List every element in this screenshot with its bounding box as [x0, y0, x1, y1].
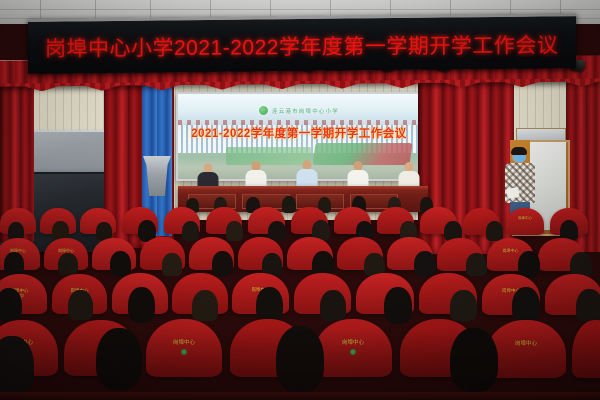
face-mask-icon: [513, 155, 526, 162]
audience-head: [512, 287, 540, 324]
seat-embroidery-line1: 岗埠中心: [503, 249, 519, 254]
audience-head: [256, 287, 283, 323]
audience-head: [466, 253, 487, 276]
seat-embroidery-line1: 岗埠中心: [173, 340, 195, 346]
audience-head: [276, 326, 324, 392]
audience-head: [128, 287, 155, 323]
seat: 岗埠中心: [146, 319, 222, 377]
audience-head: [0, 288, 22, 322]
audience-head: [212, 251, 233, 277]
seat-embroidery-line1: 岗埠中心: [515, 341, 537, 347]
audience-head: [58, 253, 78, 275]
audience-head: [192, 290, 218, 321]
seat: 岗埠中心: [506, 208, 544, 235]
seat: 岗埠中心: [486, 320, 566, 378]
led-banner: 岗埠中心小学2021-2022学年度第一学期开学工作会议: [28, 13, 576, 74]
audience-head: [486, 221, 503, 241]
standing-attendee-hair: [511, 147, 527, 155]
projection-overlay-title: 2021-2022学年度第一学期开学工作会议: [191, 125, 407, 141]
seat: [572, 320, 600, 378]
audience-head: [96, 328, 142, 390]
audience-head: [226, 221, 243, 241]
audience-head: [518, 251, 540, 278]
audience-head: [282, 196, 296, 213]
audience-head: [4, 252, 24, 276]
audience-head: [182, 221, 199, 241]
audience-head: [68, 290, 93, 320]
projection-logo: 连云港市岗埠中心小学: [259, 106, 339, 115]
banner-title: 岗埠中心小学2021-2022学年度第一学期开学工作会议: [45, 29, 558, 63]
seat-embroidery-line1: 岗埠中心: [342, 340, 364, 346]
audience-head: [110, 251, 131, 277]
audience-head: [450, 328, 498, 392]
projection-logo-text: 连云港市岗埠中心小学: [272, 107, 339, 115]
audience-head: [320, 290, 346, 321]
audience-head: [384, 287, 412, 324]
school-logo-icon: [259, 106, 268, 115]
seat-embroidery-line1: 岗埠中心: [518, 216, 532, 220]
auditorium-photo: 连云港市岗埠中心小学 2021-2022学年度第一学期开学工作会议 岗埠中心小: [0, 0, 600, 400]
seat: 岗埠中心: [314, 319, 392, 377]
audience-head: [162, 253, 182, 276]
floor: [0, 392, 600, 400]
audience-head: [576, 289, 600, 322]
audience-head: [450, 290, 477, 321]
audience-head: [414, 251, 436, 277]
held-paper: [506, 187, 519, 199]
